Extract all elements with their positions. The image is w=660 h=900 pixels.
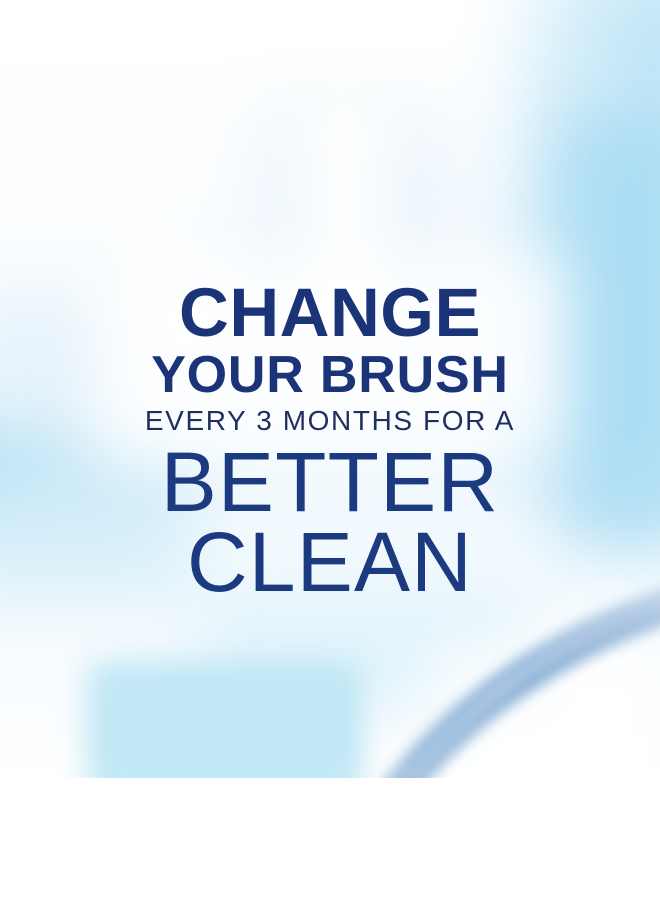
bottom-letterbox	[0, 778, 660, 900]
headline-line-every-3-months: EVERY 3 MONTHS FOR A	[0, 407, 660, 435]
headline-line-your-brush: YOUR BRUSH	[0, 349, 660, 401]
headline-block: CHANGE YOUR BRUSH EVERY 3 MONTHS FOR A B…	[0, 278, 660, 604]
headline-line-clean: CLEAN	[0, 520, 660, 604]
cyan-counter-box-core	[105, 678, 350, 778]
banner-canvas: CHANGE YOUR BRUSH EVERY 3 MONTHS FOR A B…	[0, 0, 660, 900]
headline-line-change: CHANGE	[0, 278, 660, 347]
headline-line-better: BETTER	[0, 440, 660, 524]
